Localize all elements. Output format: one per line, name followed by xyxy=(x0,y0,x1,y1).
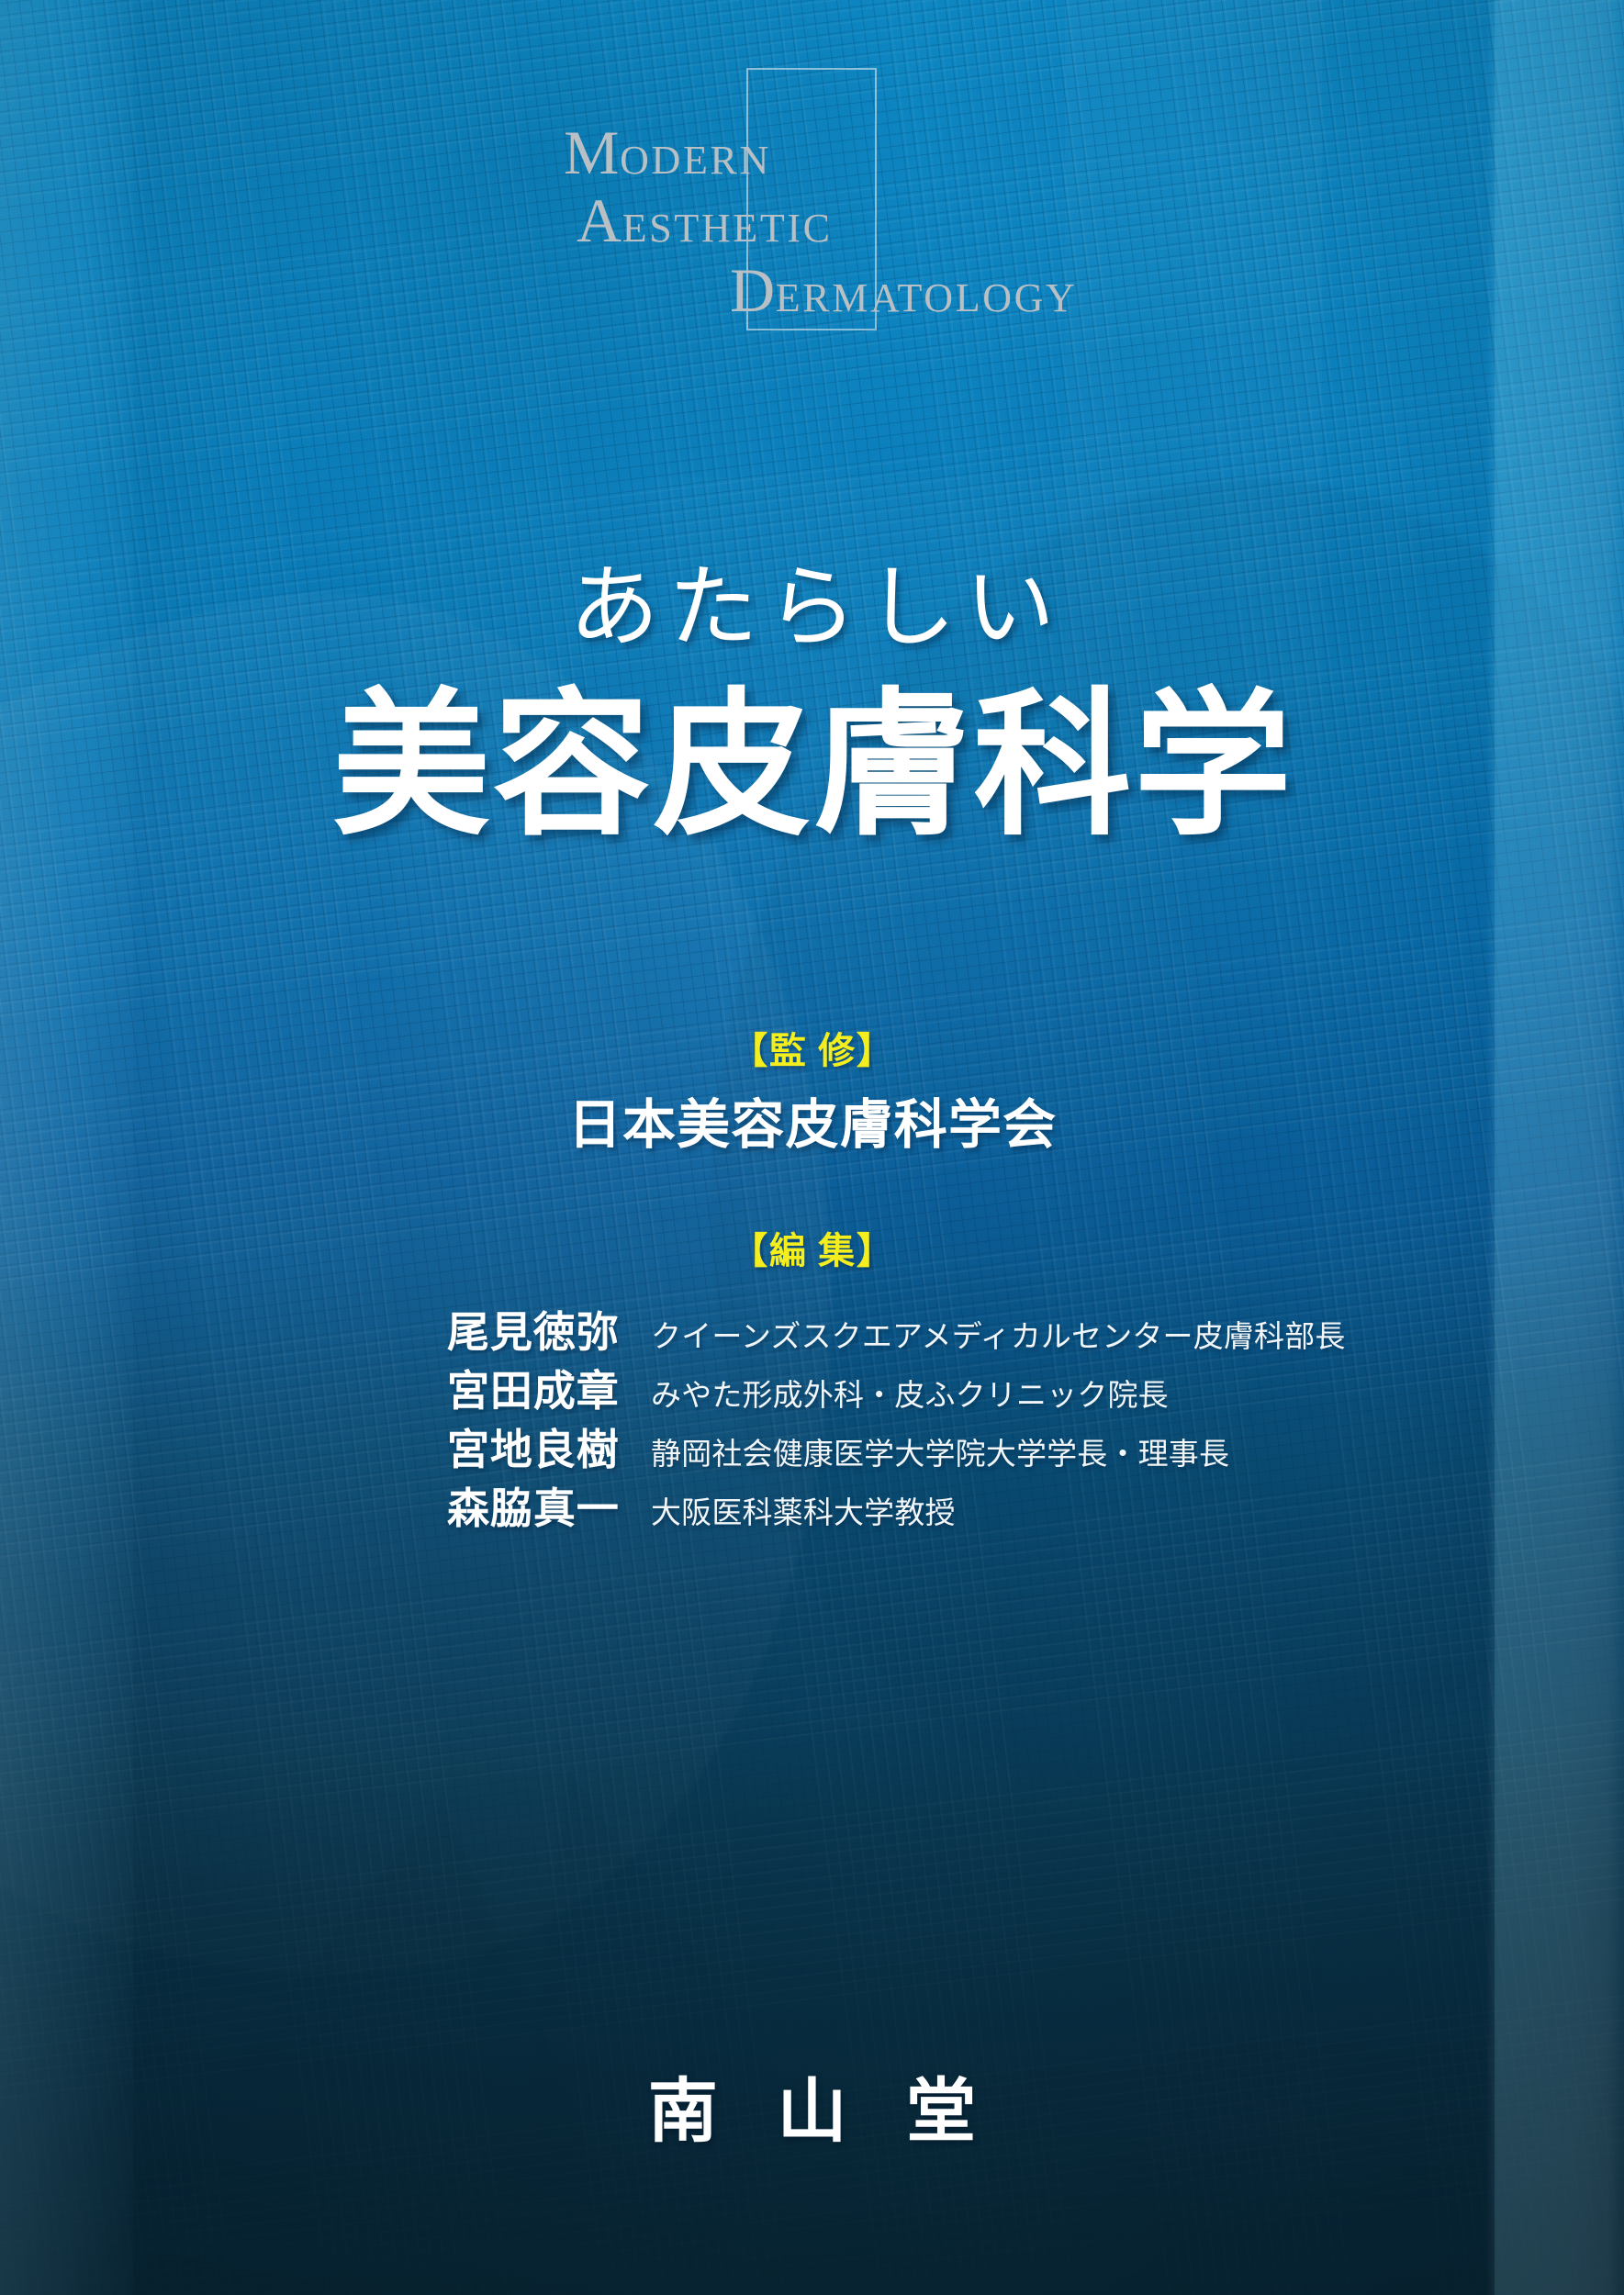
editor-affiliation: クイーンズスクエアメディカルセンター皮膚科部長 xyxy=(651,1312,1346,1356)
series-logo: MODERN AESTHETIC DERMATOLOGY xyxy=(0,51,1624,345)
supervision-organization: 日本美容皮膚科学会 xyxy=(0,1081,1624,1159)
list-item: 宮地良樹 静岡社会健康医学大学院大学学長・理事長 xyxy=(0,1416,1624,1475)
editor-affiliation: 大阪医科薬科大学教授 xyxy=(651,1488,956,1532)
editor-list: 尾見徳弥 クイーンズスクエアメディカルセンター皮膚科部長 宮田成章 みやた形成外… xyxy=(0,1299,1624,1534)
list-item: 尾見徳弥 クイーンズスクエアメディカルセンター皮膚科部長 xyxy=(0,1299,1624,1358)
series-logo-line-modern: MODERN xyxy=(564,121,771,184)
editor-affiliation: 静岡社会健康医学大学院大学学長・理事長 xyxy=(651,1429,1229,1473)
editing-label: 【編 集】 xyxy=(0,1221,1624,1274)
supervision-label: 【監 修】 xyxy=(0,1021,1624,1074)
logo-rest-modern: ODERN xyxy=(620,138,771,183)
book-cover: MODERN AESTHETIC DERMATOLOGY あたらしい 美容皮膚科… xyxy=(0,0,1624,2295)
editor-affiliation: みやた形成外科・皮ふクリニック院長 xyxy=(651,1371,1169,1415)
logo-initial-a: A xyxy=(577,185,622,255)
logo-rest-aesthetic: ESTHETIC xyxy=(622,206,833,251)
series-logo-line-dermatology: DERMATOLOGY xyxy=(730,259,1077,321)
series-logo-line-aesthetic: AESTHETIC xyxy=(577,189,833,252)
editor-name: 森脇真一 xyxy=(447,1475,651,1536)
page-title: 美容皮膚科学 xyxy=(0,681,1624,855)
logo-rest-dermatology: ERMATOLOGY xyxy=(776,275,1078,320)
editor-name: 宮地良樹 xyxy=(447,1416,651,1477)
list-item: 森脇真一 大阪医科薬科大学教授 xyxy=(0,1475,1624,1534)
editor-name: 尾見徳弥 xyxy=(447,1299,651,1360)
editor-name: 宮田成章 xyxy=(447,1358,651,1418)
list-item: 宮田成章 みやた形成外科・皮ふクリニック院長 xyxy=(0,1358,1624,1416)
logo-initial-d: D xyxy=(730,255,776,325)
cover-content: MODERN AESTHETIC DERMATOLOGY あたらしい 美容皮膚科… xyxy=(0,0,1624,2295)
title-subtitle: あたらしい xyxy=(0,562,1624,656)
publisher-name: 南 山 堂 xyxy=(0,2054,1624,2155)
logo-initial-m: M xyxy=(564,118,620,187)
